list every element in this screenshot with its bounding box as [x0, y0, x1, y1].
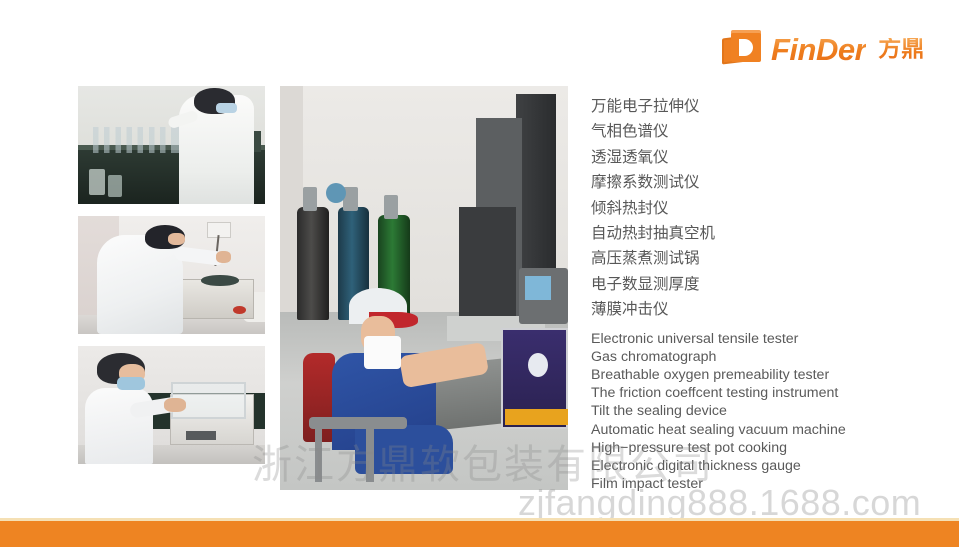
list-item: 自动热封抽真空机 — [591, 221, 941, 246]
list-item: Gas chromatograph — [591, 348, 941, 366]
list-item: High−pressure test pot cooking — [591, 439, 941, 457]
photo-bench-instrument — [78, 216, 265, 334]
list-item: 透湿透氧仪 — [591, 145, 941, 170]
footer-bar — [0, 521, 959, 547]
list-item: 电子数显测厚度 — [591, 272, 941, 297]
list-item: 万能电子拉伸仪 — [591, 94, 941, 119]
list-item: 高压蒸煮测试锅 — [591, 246, 941, 271]
logo-chinese-name: 方鼎 — [878, 38, 924, 61]
list-item: Tilt the sealing device — [591, 402, 941, 420]
list-item: Breathable oxygen premeability tester — [591, 366, 941, 384]
list-item: 气相色谱仪 — [591, 119, 941, 144]
list-item: Electronic universal tensile tester — [591, 330, 941, 348]
list-item: 薄膜冲击仪 — [591, 297, 941, 322]
list-item: The friction coeffcent testing instrumen… — [591, 384, 941, 402]
brand-logo: FinDer 方鼎 — [722, 30, 924, 68]
photo-column-left — [78, 86, 265, 476]
equipment-list-english: Electronic universal tensile tester Gas … — [591, 330, 941, 494]
list-item: 倾斜热封仪 — [591, 196, 941, 221]
list-item: Electronic digital thickness gauge — [591, 457, 941, 475]
equipment-list-chinese: 万能电子拉伸仪 气相色谱仪 透湿透氧仪 摩擦系数测试仪 倾斜热封仪 自动热封抽真… — [591, 94, 941, 323]
photo-lab-glassware — [78, 86, 265, 204]
photo-analytical-balance — [78, 346, 265, 464]
list-item: Film impact tester — [591, 475, 941, 493]
list-item: 摩擦系数测试仪 — [591, 170, 941, 195]
finder-cube-icon — [722, 30, 762, 68]
list-item: Automatic heat sealing vacuum machine — [591, 421, 941, 439]
equipment-text-column: 万能电子拉伸仪 气相色谱仪 透湿透氧仪 摩擦系数测试仪 倾斜热封仪 自动热封抽真… — [591, 94, 941, 493]
logo-wordmark: FinDer — [771, 34, 866, 65]
photo-tensile-tester — [280, 86, 568, 490]
